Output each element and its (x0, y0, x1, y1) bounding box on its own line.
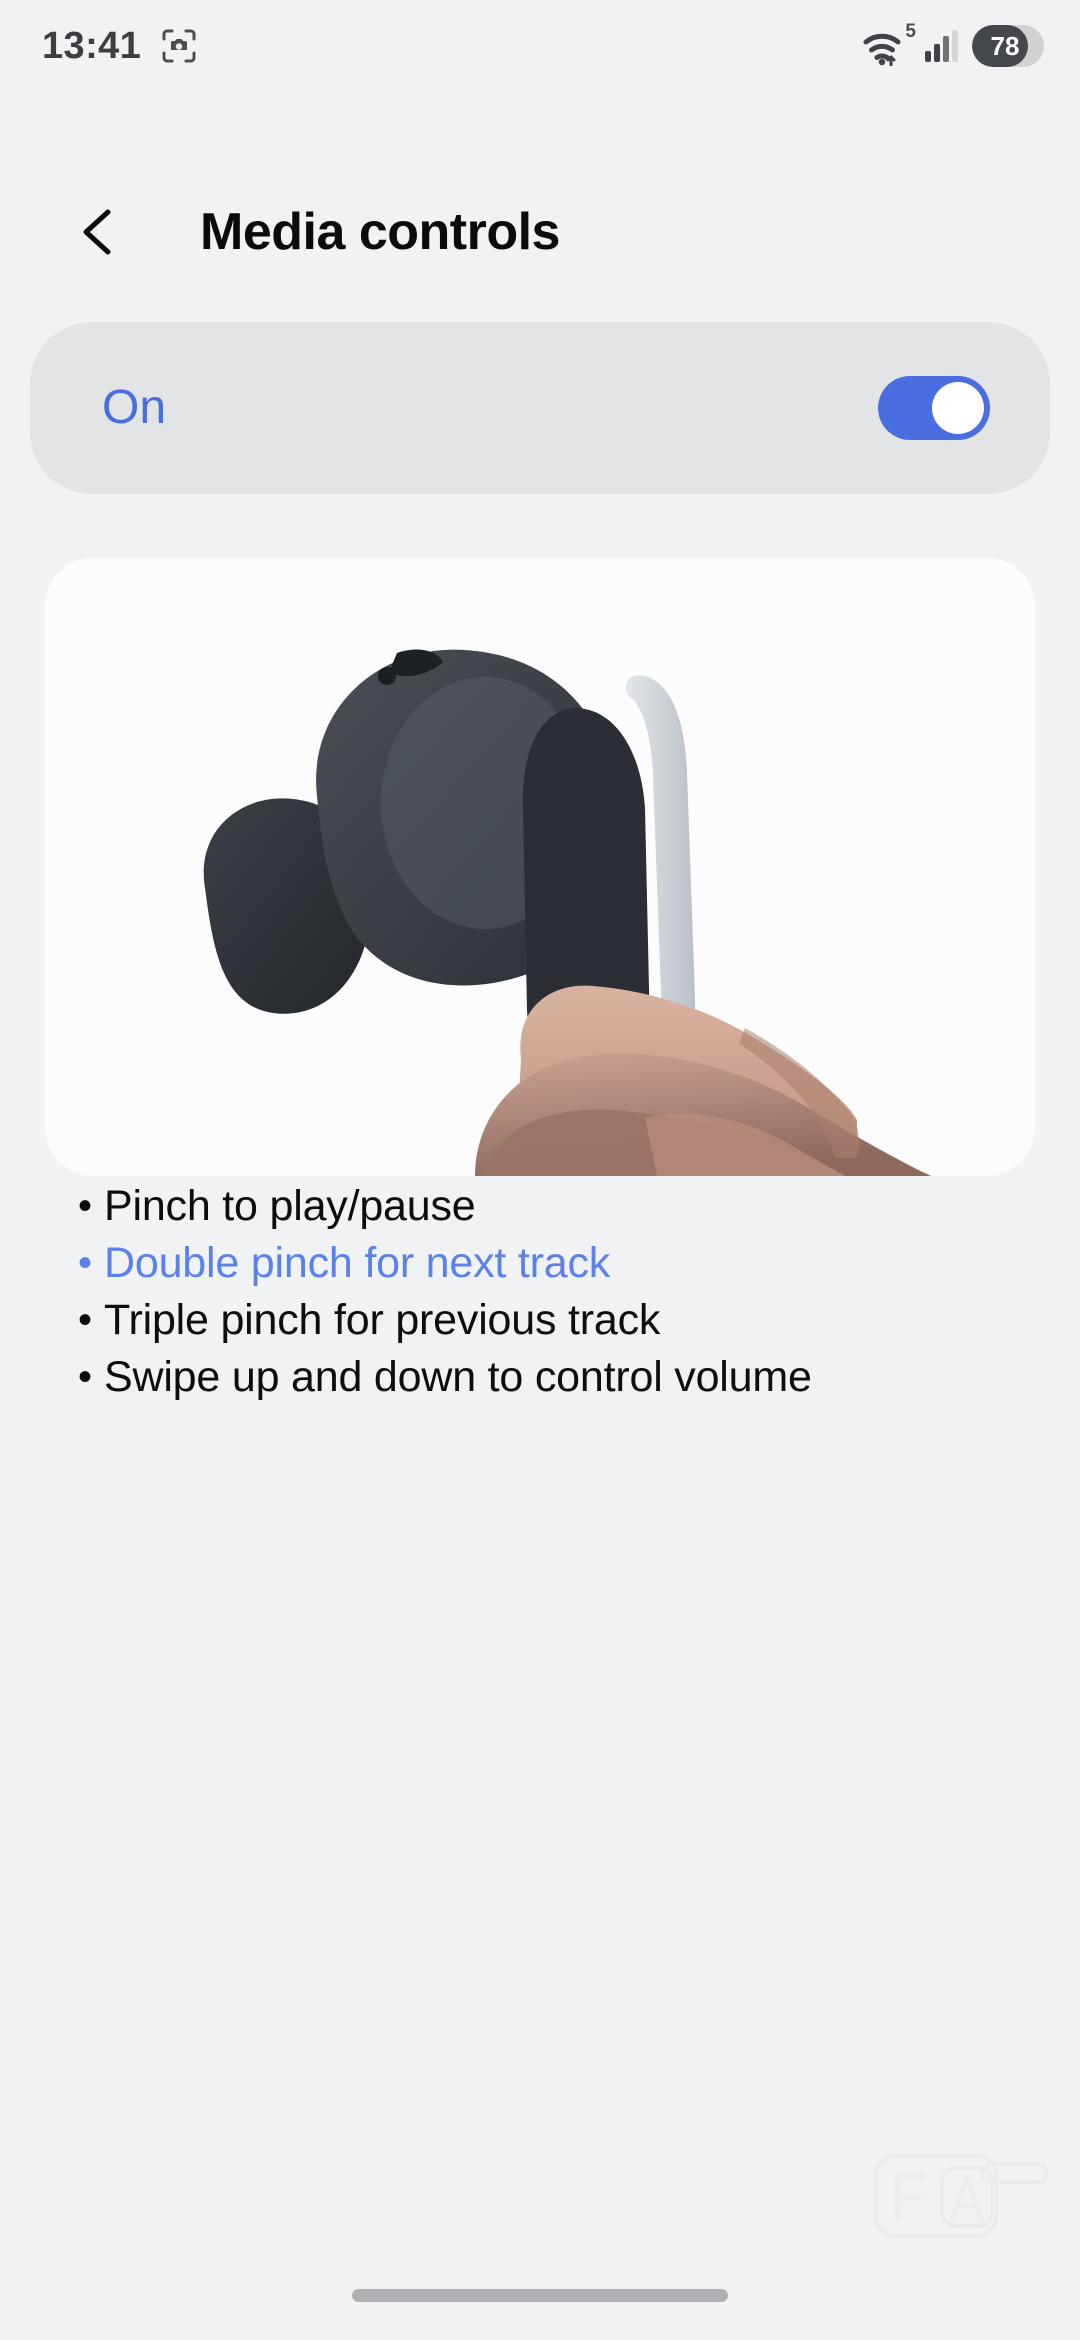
instruction-text: Triple pinch for previous track (104, 1292, 1018, 1348)
gesture-home-bar[interactable] (352, 2289, 728, 2302)
earbud-mic-hole (378, 667, 396, 685)
battery-percent-label: 78 (972, 33, 1044, 59)
status-bar-clock: 13:41 (42, 27, 141, 65)
instruction-text: Swipe up and down to control volume (104, 1349, 1018, 1405)
bullet-icon: • (78, 1235, 104, 1291)
screenshot-capture-icon[interactable] (161, 28, 197, 64)
status-bar: 13:41 (0, 0, 1080, 92)
instruction-item-highlighted: • Double pinch for next track (78, 1235, 1018, 1291)
phone-screen: 13:41 (0, 0, 1080, 2340)
wifi-icon: 5 (862, 26, 910, 66)
fa-watermark (864, 2138, 1052, 2248)
media-controls-switch[interactable] (878, 376, 990, 440)
battery-indicator: 78 (972, 25, 1044, 67)
bullet-icon: • (78, 1178, 104, 1234)
status-bar-right: 5 78 (862, 25, 1044, 67)
instruction-item: • Triple pinch for previous track (78, 1292, 1018, 1348)
page-header: Media controls (0, 176, 1080, 288)
bullet-icon: • (78, 1292, 104, 1348)
instructions-list: • Pinch to play/pause • Double pinch for… (78, 1178, 1018, 1406)
media-controls-toggle-row[interactable]: On (30, 322, 1050, 494)
switch-knob (932, 382, 984, 434)
earbud-pinch-gesture-illustration (45, 558, 1035, 1176)
instruction-text: Double pinch for next track (104, 1235, 1018, 1291)
toggle-state-label: On (102, 384, 166, 432)
cellular-signal-icon (924, 29, 958, 63)
instruction-item: • Pinch to play/pause (78, 1178, 1018, 1234)
instruction-item: • Swipe up and down to control volume (78, 1349, 1018, 1405)
bullet-icon: • (78, 1349, 104, 1405)
status-bar-left: 13:41 (42, 27, 197, 65)
wifi-generation-label: 5 (905, 22, 916, 41)
page-title: Media controls (200, 206, 560, 258)
instruction-text: Pinch to play/pause (104, 1178, 1018, 1234)
chevron-left-icon[interactable] (72, 204, 128, 260)
illustration-card (45, 558, 1035, 1176)
